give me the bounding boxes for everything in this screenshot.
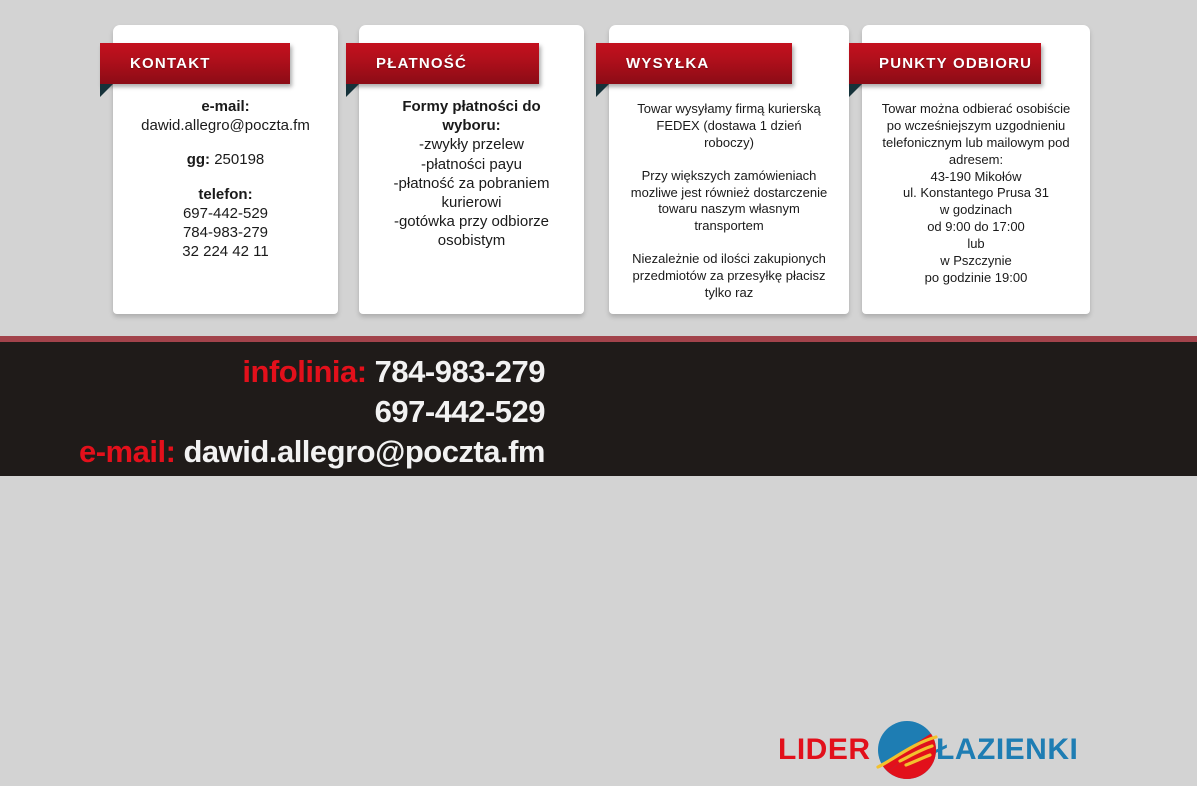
card-banner-label: WYSYŁKA bbox=[596, 55, 709, 72]
card-line: Towar wysyłamy firmą kurierską bbox=[617, 101, 841, 118]
card-line-phone: 32 224 42 11 bbox=[121, 242, 330, 261]
card-body-platnosc: Formy płatności do wyboru: -zwykły przel… bbox=[367, 97, 576, 251]
footer-contact-block: infolinia: 784-983-279 697-442-529 e-mai… bbox=[0, 352, 545, 472]
card-line: -płatność za pobraniem bbox=[367, 174, 576, 193]
page-footer: infolinia: 784-983-279 697-442-529 e-mai… bbox=[0, 342, 1197, 476]
spacer bbox=[121, 135, 330, 150]
card-line: Towar można odbierać osobiście bbox=[870, 101, 1082, 118]
card-banner-label: KONTAKT bbox=[100, 55, 211, 72]
card-line: transportem bbox=[617, 218, 841, 235]
card-body-kontakt: e-mail: dawid.allegro@poczta.fm gg: 2501… bbox=[121, 97, 330, 261]
card-line-hours: od 9:00 do 17:00 bbox=[870, 219, 1082, 236]
card-line: osobistym bbox=[367, 231, 576, 250]
footer-value-email[interactable]: dawid.allegro@poczta.fm bbox=[184, 434, 546, 469]
card-banner-wysylka: WYSYŁKA bbox=[596, 43, 792, 84]
card-wysylka: WYSYŁKA Towar wysyłamy firmą kurierską F… bbox=[609, 25, 849, 314]
card-banner-kontakt: KONTAKT bbox=[100, 43, 290, 84]
card-kontakt: KONTAKT e-mail: dawid.allegro@poczta.fm … bbox=[113, 25, 338, 314]
card-line-hours: po godzinie 19:00 bbox=[870, 270, 1082, 287]
card-line: adresem: bbox=[870, 152, 1082, 169]
card-line-gg: gg: 250198 bbox=[121, 150, 330, 169]
card-banner-punkty-odbioru: PUNKTY ODBIORU bbox=[849, 43, 1041, 84]
card-line: roboczy) bbox=[617, 135, 841, 152]
footer-label-infolinia: infolinia: bbox=[242, 354, 374, 389]
card-line: -zwykły przelew bbox=[367, 135, 576, 154]
footer-label-email: e-mail: bbox=[79, 434, 184, 469]
card-line: Przy większych zamówieniach bbox=[617, 168, 841, 185]
card-line: wyboru: bbox=[367, 116, 576, 135]
card-body-punkty-odbioru: Towar można odbierać osobiście po wcześn… bbox=[870, 101, 1082, 287]
card-line: po wcześniejszym uzgodnieniu bbox=[870, 118, 1082, 135]
card-line: Formy płatności do bbox=[367, 97, 576, 116]
ribbon-fold-icon bbox=[849, 84, 862, 97]
logo-word-lider: LIDER bbox=[778, 733, 871, 767]
card-line: -płatności payu bbox=[367, 155, 576, 174]
card-banner-platnosc: PŁATNOŚĆ bbox=[346, 43, 539, 84]
ribbon-fold-icon bbox=[100, 84, 113, 97]
logo-word-lazienki: ŁAZIENKI bbox=[936, 733, 1078, 767]
card-banner-label: PŁATNOŚĆ bbox=[346, 55, 467, 72]
card-punkty-odbioru: PUNKTY ODBIORU Towar można odbierać osob… bbox=[862, 25, 1090, 314]
card-line: w godzinach bbox=[870, 202, 1082, 219]
footer-value-phone-2: 697-442-529 bbox=[375, 394, 545, 429]
card-line: telefon: bbox=[121, 185, 330, 204]
spacer bbox=[121, 170, 330, 185]
card-line: kurierowi bbox=[367, 193, 576, 212]
card-line: tylko raz bbox=[617, 285, 841, 302]
brand-logo[interactable]: LIDER ŁAZIENKI bbox=[778, 719, 1088, 781]
card-line: mozliwe jest również dostarczenie bbox=[617, 185, 841, 202]
card-line: lub bbox=[870, 236, 1082, 253]
card-line-email[interactable]: dawid.allegro@poczta.fm bbox=[121, 116, 330, 135]
card-line: towaru naszym własnym bbox=[617, 201, 841, 218]
card-line-address: w Pszczynie bbox=[870, 253, 1082, 270]
card-line-address: ul. Konstantego Prusa 31 bbox=[870, 185, 1082, 202]
card-line: e-mail: bbox=[121, 97, 330, 116]
card-line-phone: 784-983-279 bbox=[121, 223, 330, 242]
card-line: FEDEX (dostawa 1 dzień bbox=[617, 118, 841, 135]
spacer bbox=[617, 152, 841, 168]
card-line-address: 43-190 Mikołów bbox=[870, 169, 1082, 186]
card-platnosc: PŁATNOŚĆ Formy płatności do wyboru: -zwy… bbox=[359, 25, 584, 314]
footer-row-email: e-mail: dawid.allegro@poczta.fm bbox=[0, 432, 545, 472]
card-line: Niezależnie od ilości zakupionych bbox=[617, 251, 841, 268]
card-banner-label: PUNKTY ODBIORU bbox=[849, 55, 1032, 72]
card-line: -gotówka przy odbiorze bbox=[367, 212, 576, 231]
ribbon-fold-icon bbox=[346, 84, 359, 97]
ribbon-fold-icon bbox=[596, 84, 609, 97]
footer-row-infolinia: infolinia: 784-983-279 bbox=[0, 352, 545, 392]
card-line: telefonicznym lub mailowym pod bbox=[870, 135, 1082, 152]
spacer bbox=[617, 235, 841, 251]
card-body-wysylka: Towar wysyłamy firmą kurierską FEDEX (do… bbox=[617, 101, 841, 302]
footer-row-phone-2: 697-442-529 bbox=[0, 392, 545, 432]
logo-globe-icon bbox=[876, 719, 938, 781]
footer-value-phone-1: 784-983-279 bbox=[375, 354, 545, 389]
card-line-phone: 697-442-529 bbox=[121, 204, 330, 223]
card-line: przedmiotów za przesyłkę płacisz bbox=[617, 268, 841, 285]
